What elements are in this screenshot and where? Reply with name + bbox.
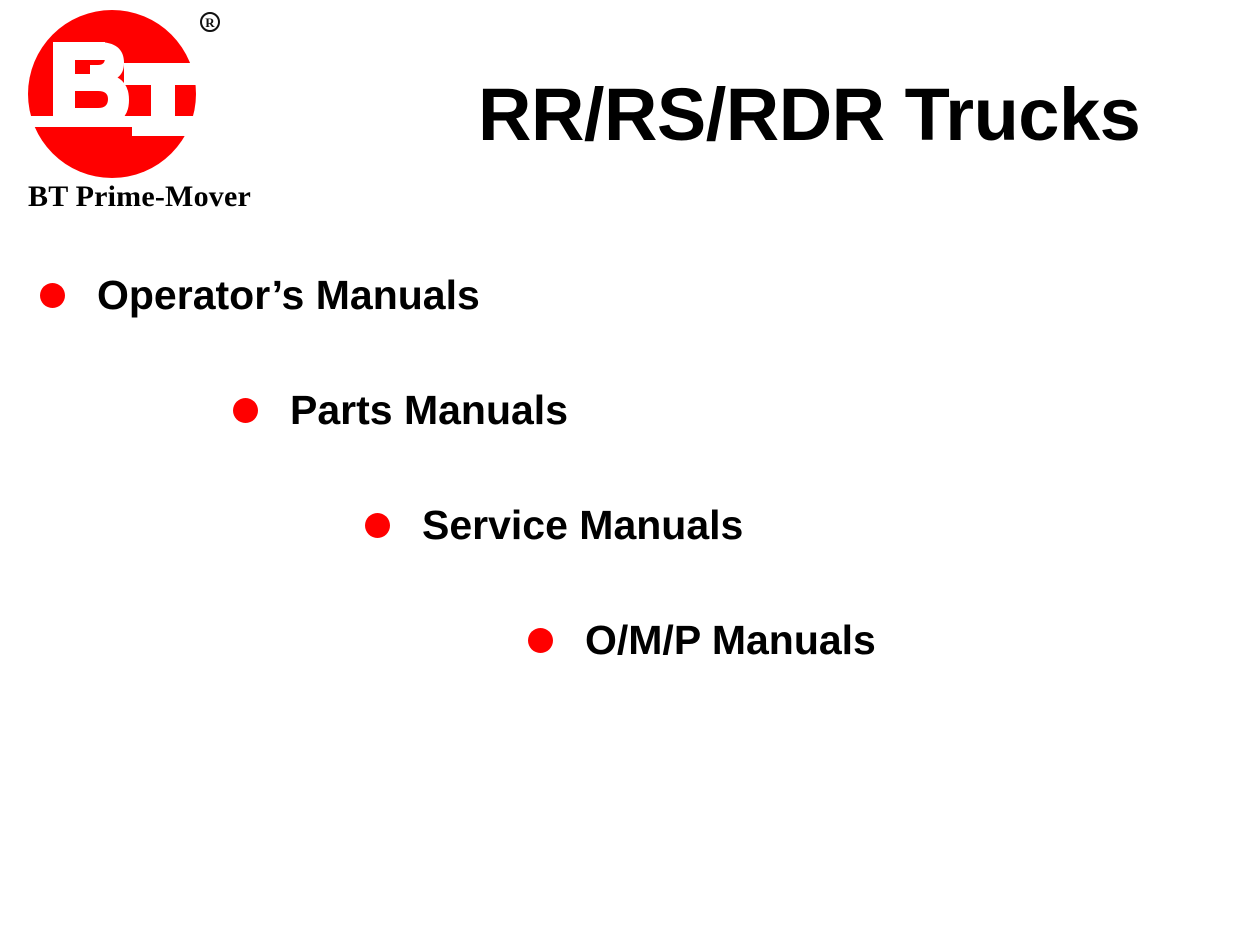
bullet-item-label: Operator’s Manuals	[97, 275, 480, 316]
bullet-item-label: Parts Manuals	[290, 390, 568, 431]
bullet-item-label: O/M/P Manuals	[585, 620, 876, 661]
slide-canvas: R BT Prime-Mover RR/RS/RDR Trucks Operat…	[0, 0, 1237, 928]
bullet-item-service-manuals[interactable]: Service Manuals	[365, 505, 743, 546]
bullet-dot-icon	[528, 628, 553, 653]
bullet-dot-icon	[40, 283, 65, 308]
bullet-item-omp-manuals[interactable]: O/M/P Manuals	[528, 620, 876, 661]
bullet-item-operators-manuals[interactable]: Operator’s Manuals	[40, 275, 480, 316]
bullet-dot-icon	[233, 398, 258, 423]
bullet-list: Operator’s Manuals Parts Manuals Service…	[0, 0, 1237, 928]
bullet-dot-icon	[365, 513, 390, 538]
bullet-item-label: Service Manuals	[422, 505, 743, 546]
bullet-item-parts-manuals[interactable]: Parts Manuals	[233, 390, 568, 431]
